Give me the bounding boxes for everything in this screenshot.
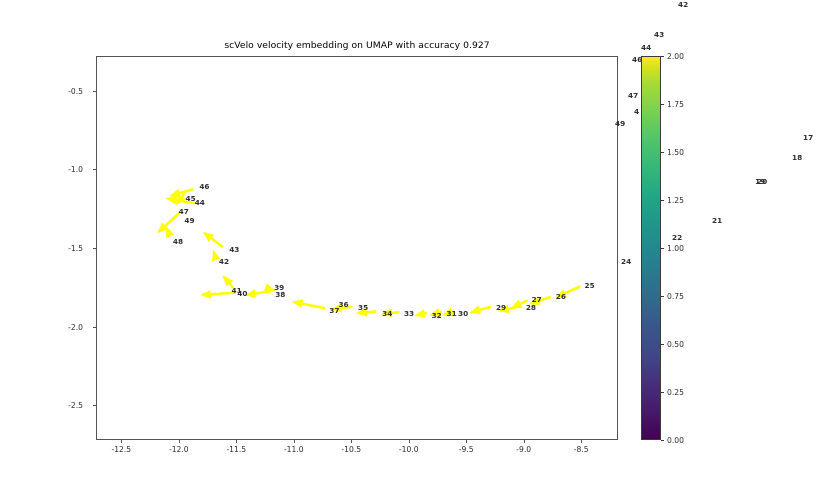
x-tick-label: -10.0 xyxy=(389,445,429,454)
x-tick-mark xyxy=(409,440,410,443)
cell-index-label: 42 xyxy=(219,258,229,265)
x-tick-mark xyxy=(581,440,582,443)
colorbar-tick-mark xyxy=(661,200,664,201)
velocity-arrow xyxy=(159,213,180,232)
matplotlib-figure: scVelo velocity embedding on UMAP with a… xyxy=(0,0,817,492)
plot-title: scVelo velocity embedding on UMAP with a… xyxy=(96,40,618,51)
cell-index-label: 43 xyxy=(229,246,239,253)
y-axis-tick-labels: -0.5-1.0-1.5-2.0-2.5 xyxy=(0,56,92,440)
cell-index-label: 33 xyxy=(404,310,414,317)
cell-index-label: 35 xyxy=(358,304,368,311)
x-tick-mark xyxy=(121,440,122,443)
clipped-cell-index-label: 42 xyxy=(678,1,688,8)
colorbar-tick-label: 0.75 xyxy=(667,292,684,301)
cell-index-label: 38 xyxy=(275,291,285,298)
colorbar-tick-label: 0.50 xyxy=(667,340,684,349)
colorbar-tick-mark xyxy=(661,440,664,441)
colorbar-tick-mark xyxy=(661,248,664,249)
cell-index-label: 47 xyxy=(179,208,189,215)
clipped-cell-index-label: 43 xyxy=(654,31,664,38)
cell-index-label: 36 xyxy=(338,301,348,308)
x-tick-label: -8.5 xyxy=(561,445,601,454)
y-tick-label: -2.0 xyxy=(68,323,83,332)
colorbar-tick-label: 1.50 xyxy=(667,148,684,157)
x-tick-label: -10.5 xyxy=(331,445,371,454)
clipped-cell-index-label: 24 xyxy=(621,258,631,265)
colorbar-tick-mark xyxy=(661,104,664,105)
plot-axes-area[interactable]: 4645444749484342414039383736353433323130… xyxy=(96,56,618,440)
x-tick-label: -9.5 xyxy=(446,445,486,454)
x-tick-mark xyxy=(524,440,525,443)
clipped-cell-index-label: 17 xyxy=(803,134,813,141)
colorbar-tick-label: 1.00 xyxy=(667,244,684,253)
cell-index-label: 40 xyxy=(237,290,247,297)
clipped-cell-index-label: 47 xyxy=(628,92,638,99)
colorbar-tick-mark xyxy=(661,56,664,57)
clipped-cell-index-label: 18 xyxy=(792,154,802,161)
colorbar-tick-mark xyxy=(661,392,664,393)
x-tick-mark xyxy=(466,440,467,443)
x-axis-tick-marks xyxy=(96,440,618,444)
clipped-cell-index-label: 4 xyxy=(634,108,639,115)
x-tick-mark xyxy=(179,440,180,443)
colorbar-tick-mark xyxy=(661,296,664,297)
clipped-cell-index-label: 49 xyxy=(615,120,625,127)
velocity-arrow xyxy=(167,228,170,236)
clipped-cell-index-label: 20 xyxy=(757,178,767,185)
cell-index-label: 46 xyxy=(199,183,209,190)
cell-index-label: 48 xyxy=(173,238,183,245)
velocity-arrow xyxy=(472,307,491,312)
colorbar-tick-mark xyxy=(661,152,664,153)
x-tick-label: -9.0 xyxy=(504,445,544,454)
y-tick-label: -2.5 xyxy=(68,401,83,410)
cell-index-label: 25 xyxy=(585,282,595,289)
velocity-arrow xyxy=(269,289,274,291)
velocity-arrow xyxy=(205,233,223,247)
colorbar-tick-label: 0.25 xyxy=(667,388,684,397)
colorbar-tick-label: 1.25 xyxy=(667,196,684,205)
velocity-arrow-layer xyxy=(97,57,617,439)
x-tick-mark xyxy=(351,440,352,443)
cell-index-label: 27 xyxy=(532,296,542,303)
colorbar-gradient xyxy=(641,56,661,440)
x-tick-label: -11.0 xyxy=(274,445,314,454)
cell-index-label: 32 xyxy=(432,312,442,319)
colorbar-tick-label: 2.00 xyxy=(667,52,684,61)
cell-index-label: 26 xyxy=(556,293,566,300)
velocity-arrow xyxy=(214,252,216,260)
clipped-cell-index-label: 22 xyxy=(672,234,682,241)
y-tick-label: -0.5 xyxy=(68,87,83,96)
x-tick-label: -11.5 xyxy=(216,445,256,454)
velocity-arrow xyxy=(417,313,427,315)
cell-index-label: 49 xyxy=(184,217,194,224)
colorbar[interactable] xyxy=(641,56,661,440)
velocity-arrow xyxy=(247,291,271,295)
x-axis-tick-labels: -12.5-12.0-11.5-11.0-10.5-10.0-9.5-9.0-8… xyxy=(96,443,618,457)
cell-index-label: 29 xyxy=(496,304,506,311)
velocity-arrow xyxy=(294,302,325,308)
y-tick-label: -1.0 xyxy=(68,165,83,174)
cell-index-label: 30 xyxy=(458,310,468,317)
clipped-cell-index-label: 46 xyxy=(632,56,642,63)
cell-index-label: 44 xyxy=(195,199,205,206)
y-tick-label: -1.5 xyxy=(68,244,83,253)
clipped-cell-index-label: 21 xyxy=(712,217,722,224)
cell-index-label: 34 xyxy=(382,310,392,317)
x-tick-mark xyxy=(294,440,295,443)
cell-index-label: 31 xyxy=(447,310,457,317)
x-tick-label: -12.0 xyxy=(159,445,199,454)
clipped-cell-index-label: 44 xyxy=(641,44,651,51)
x-tick-label: -12.5 xyxy=(101,445,141,454)
colorbar-tick-label: 0.00 xyxy=(667,436,684,445)
cell-index-label: 28 xyxy=(526,304,536,311)
x-tick-mark xyxy=(236,440,237,443)
colorbar-tick-label: 1.75 xyxy=(667,100,684,109)
colorbar-tick-mark xyxy=(661,344,664,345)
